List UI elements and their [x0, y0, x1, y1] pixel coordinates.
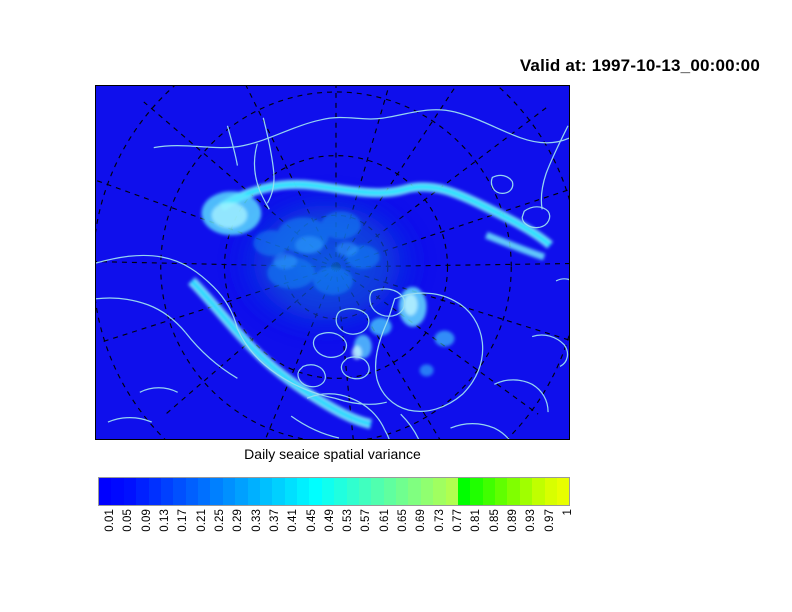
colorbar-tick-0.61: 0.61: [379, 509, 391, 532]
colorbar-tick-labels: 0.010.050.090.130.170.210.250.290.330.37…: [98, 506, 570, 576]
colorbar-swatch-37: [557, 478, 569, 505]
colorbar-tick-0.97: 0.97: [544, 509, 556, 532]
colorbar-swatch-2: [124, 478, 136, 505]
colorbar-swatch-11: [235, 478, 247, 505]
colorbar-swatch-20: [347, 478, 359, 505]
map-plot-area[interactable]: 135°E 150°E 165°E 180° 15°E 0° 15°W 30°W…: [95, 85, 570, 440]
colorbar-swatch-31: [483, 478, 495, 505]
colorbar-swatch-17: [309, 478, 321, 505]
colorbar-swatch-19: [334, 478, 346, 505]
colorbar-swatch-7: [186, 478, 198, 505]
colorbar-tick-0.41: 0.41: [287, 509, 299, 532]
colorbar-swatch-10: [223, 478, 235, 505]
colorbar-swatch-18: [322, 478, 334, 505]
colorbar-tick-1: 1: [562, 509, 574, 516]
colorbar-swatch-9: [210, 478, 222, 505]
colorbar-tick-0.69: 0.69: [415, 509, 427, 532]
colorbar-swatch-15: [285, 478, 297, 505]
colorbar-swatch-35: [532, 478, 544, 505]
colorbar-tick-0.53: 0.53: [342, 509, 354, 532]
arctic-map: [96, 86, 569, 439]
colorbar[interactable]: 0.010.050.090.130.170.210.250.290.330.37…: [98, 477, 570, 576]
colorbar-tick-0.05: 0.05: [122, 509, 134, 532]
colorbar-tick-0.21: 0.21: [196, 509, 208, 532]
colorbar-tick-0.29: 0.29: [232, 509, 244, 532]
colorbar-swatch-5: [161, 478, 173, 505]
colorbar-swatch-24: [396, 478, 408, 505]
page-title: Valid at: 1997-10-13_00:00:00: [520, 56, 760, 76]
colorbar-swatch-33: [507, 478, 519, 505]
colorbar-swatch-16: [297, 478, 309, 505]
colorbar-tick-0.09: 0.09: [141, 509, 153, 532]
colorbar-swatch-28: [446, 478, 458, 505]
plot-caption: Daily seaice spatial variance: [95, 446, 570, 462]
colorbar-swatch-36: [545, 478, 557, 505]
colorbar-tick-0.81: 0.81: [470, 509, 482, 532]
colorbar-swatch-1: [111, 478, 123, 505]
colorbar-swatch-14: [272, 478, 284, 505]
colorbar-tick-0.93: 0.93: [525, 509, 537, 532]
colorbar-swatch-26: [421, 478, 433, 505]
colorbar-tick-0.45: 0.45: [306, 509, 318, 532]
colorbar-gradient[interactable]: [98, 477, 570, 506]
colorbar-swatch-30: [470, 478, 482, 505]
colorbar-tick-0.25: 0.25: [214, 509, 226, 532]
colorbar-tick-0.89: 0.89: [507, 509, 519, 532]
colorbar-swatch-27: [433, 478, 445, 505]
colorbar-swatch-4: [149, 478, 161, 505]
colorbar-swatch-23: [384, 478, 396, 505]
colorbar-tick-0.65: 0.65: [397, 509, 409, 532]
colorbar-swatch-3: [136, 478, 148, 505]
colorbar-swatch-0: [99, 478, 111, 505]
colorbar-tick-0.01: 0.01: [104, 509, 116, 532]
colorbar-tick-0.49: 0.49: [324, 509, 336, 532]
colorbar-swatch-34: [520, 478, 532, 505]
colorbar-tick-0.33: 0.33: [251, 509, 263, 532]
colorbar-tick-0.13: 0.13: [159, 509, 171, 532]
colorbar-swatch-25: [408, 478, 420, 505]
colorbar-tick-0.37: 0.37: [269, 509, 281, 532]
colorbar-swatch-21: [359, 478, 371, 505]
colorbar-swatch-13: [260, 478, 272, 505]
colorbar-tick-0.57: 0.57: [360, 509, 372, 532]
colorbar-tick-0.85: 0.85: [489, 509, 501, 532]
colorbar-swatch-12: [248, 478, 260, 505]
colorbar-swatch-8: [198, 478, 210, 505]
colorbar-swatch-22: [371, 478, 383, 505]
figure-canvas: Valid at: 1997-10-13_00:00:00: [0, 0, 792, 612]
colorbar-tick-0.73: 0.73: [434, 509, 446, 532]
colorbar-swatch-32: [495, 478, 507, 505]
colorbar-swatch-6: [173, 478, 185, 505]
colorbar-swatch-29: [458, 478, 470, 505]
colorbar-tick-0.17: 0.17: [177, 509, 189, 532]
colorbar-tick-0.77: 0.77: [452, 509, 464, 532]
